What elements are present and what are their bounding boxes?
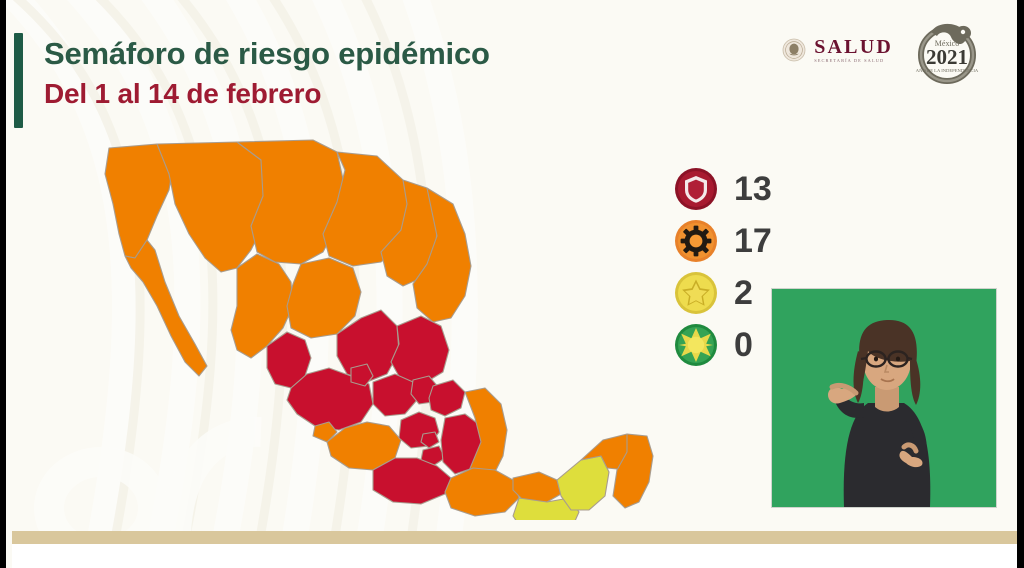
state-oaxaca[interactable] [445,468,519,516]
state-baja-california[interactable] [105,144,173,258]
legend-count-naranja: 17 [734,224,772,258]
page-subtitle-daterange: Del 1 al 14 de febrero [44,77,490,111]
legend-row-verde[interactable]: 0 [674,319,772,371]
state-baja-california-sur[interactable] [125,240,207,376]
title-accent-bar [14,33,23,128]
state-campeche[interactable] [557,456,609,510]
mexico-2021-emblem-icon: México 2021 AÑO DE LA INDEPENDENCIA [911,14,983,86]
mexico-map-svg [61,130,661,520]
emblem-tagline: AÑO DE LA INDEPENDENCIA [916,68,979,73]
salud-subtitle: SECRETARÍA DE SALUD [814,59,893,63]
footer-band [12,531,1023,544]
sun-icon [674,323,718,367]
state-hidalgo[interactable] [429,380,465,416]
star-icon [674,271,718,315]
legend-row-rojo[interactable]: 13 [674,163,772,215]
risk-legend: 13 17 [674,163,772,371]
gear-icon [674,219,718,263]
presentation-slide: Semáforo de riesgo epidémico Del 1 al 14… [0,0,1024,568]
logo-group: SALUD SECRETARÍA DE SALUD México 2021 AÑ… [781,14,983,86]
state-guerrero[interactable] [373,458,451,504]
mexican-eagle-seal-icon [781,37,807,63]
state-san-luis-potosi[interactable] [391,316,449,384]
page-title: Semáforo de riesgo epidémico [44,36,490,73]
state-guanajuato[interactable] [373,374,417,416]
legend-row-naranja[interactable]: 17 [674,215,772,267]
sign-language-interpreter-video[interactable] [771,288,997,508]
legend-count-amarillo: 2 [734,276,753,310]
legend-count-rojo: 13 [734,172,772,206]
emblem-year: 2021 [926,45,968,69]
interpreter-frame [772,289,996,507]
legend-row-amarillo[interactable]: 2 [674,267,772,319]
state-sonora[interactable] [157,142,269,272]
shield-icon [674,167,718,211]
legend-count-verde: 0 [734,328,753,362]
salud-logo: SALUD SECRETARÍA DE SALUD [781,37,893,63]
state-tabasco[interactable] [513,472,561,502]
salud-wordmark: SALUD [814,37,893,57]
mexico-map [61,130,661,520]
footer-white-strip [12,544,1023,568]
salud-text-block: SALUD SECRETARÍA DE SALUD [814,37,893,63]
title-block: Semáforo de riesgo epidémico Del 1 al 14… [44,36,490,110]
